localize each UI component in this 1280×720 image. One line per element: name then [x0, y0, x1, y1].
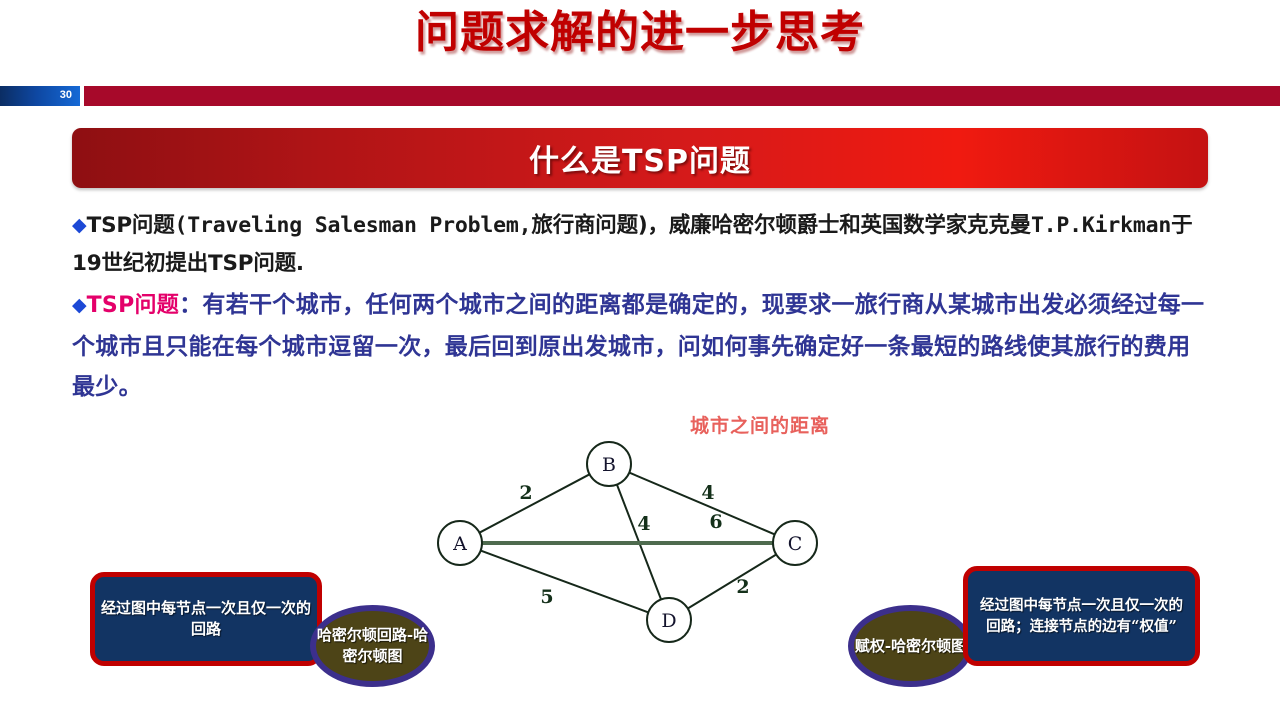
graph-weight-ad: 5: [540, 586, 553, 608]
callout-left-label: 经过图中每节点一次且仅一次的回路: [95, 598, 317, 640]
graph-edge-ab: [479, 474, 589, 532]
page-title: 问题求解的进一步思考: [0, 2, 1280, 64]
callout-left-ellipse-label: 哈密尔顿回路-哈密尔顿图: [316, 625, 429, 667]
graph-weight-ac: 6: [709, 511, 722, 533]
graph-node-label-b: B: [602, 454, 616, 476]
callout-hamiltonian-graph-ellipse: 哈密尔顿回路-哈密尔顿图: [310, 605, 435, 687]
graph-node-label-a: A: [452, 533, 467, 555]
p2-keyword: TSP问题: [87, 293, 179, 318]
p1-line2-mono: T.P.Kirkman: [1031, 213, 1171, 238]
graph-weight-dc: 2: [736, 576, 749, 598]
p1-prefix: TSP问题: [87, 213, 175, 238]
body-text: ◆TSP问题(Traveling Salesman Problem,旅行商问题)…: [72, 206, 1212, 410]
header-rule: [84, 86, 1280, 106]
graph-weight-bc: 4: [701, 482, 714, 504]
callout-hamiltonian-cycle-box: 经过图中每节点一次且仅一次的回路: [90, 572, 322, 666]
graph-edge-dc: [688, 554, 776, 608]
p1-mono: (Traveling Salesman Problem,: [175, 213, 532, 238]
graph-node-label-d: D: [661, 610, 676, 632]
graph-canvas: ABCD244652: [420, 400, 870, 680]
section-banner-label: 什么是TSP问题: [72, 128, 1208, 188]
paragraph-definition: ◆TSP问题(Traveling Salesman Problem,旅行商问题)…: [72, 206, 1212, 283]
p2-text: ：有若干个城市，任何两个城市之间的距离都是确定的，现要求一旅行商从某城市出发必须…: [72, 291, 1204, 400]
p1-line2-a: 曼: [1010, 213, 1031, 238]
diamond-bullet-icon: ◆: [72, 214, 87, 236]
callout-weighted-hamiltonian-ellipse: 赋权-哈密尔顿图: [848, 605, 973, 687]
callout-right-label: 经过图中每节点一次且仅一次的回路；连接节点的边有“权值”: [968, 595, 1195, 637]
page-number-strip: 30: [0, 86, 1280, 106]
graph-weight-bd: 4: [637, 513, 650, 535]
tsp-graph: ABCD244652: [420, 400, 870, 680]
section-banner: 什么是TSP问题: [72, 128, 1208, 188]
p1-middle: 旅行商问题)，威廉哈密尔顿爵士和英国数学家克克: [531, 213, 1009, 238]
callout-right-ellipse-label: 赋权-哈密尔顿图: [855, 636, 966, 657]
graph-edge-ad: [481, 551, 649, 613]
paragraph-statement: ◆TSP问题：有若干个城市，任何两个城市之间的距离都是确定的，现要求一旅行商从某…: [72, 285, 1212, 408]
page-number-badge: 30: [0, 86, 80, 106]
graph-node-label-c: C: [788, 533, 803, 555]
graph-weight-ab: 2: [519, 482, 532, 504]
callout-weighted-cycle-box: 经过图中每节点一次且仅一次的回路；连接节点的边有“权值”: [963, 566, 1200, 666]
diamond-bullet-icon-2: ◆: [72, 294, 87, 316]
slide-canvas: 问题求解的进一步思考 30 什么是TSP问题 ◆TSP问题(Traveling …: [0, 0, 1280, 720]
